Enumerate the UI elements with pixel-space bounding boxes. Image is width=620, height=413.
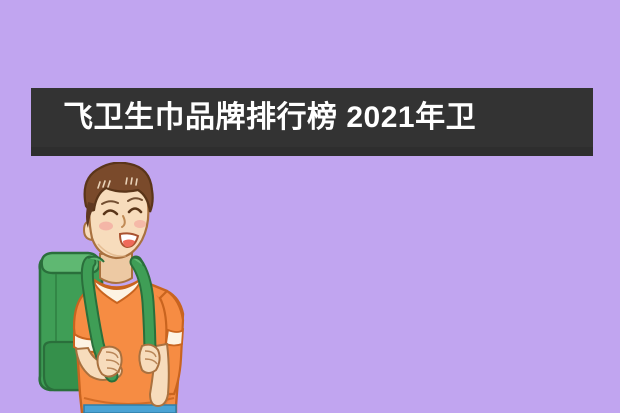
blush-left xyxy=(99,222,113,231)
blush-right xyxy=(134,220,146,228)
hand-gripping-left-strap xyxy=(98,347,122,377)
page-title: 飞卫生巾品牌排行榜 2021年卫 xyxy=(63,88,476,147)
student-illustration-svg xyxy=(28,162,218,413)
hand-gripping-right-strap xyxy=(139,345,159,373)
banner-footer-strip xyxy=(31,147,593,156)
jeans xyxy=(84,405,176,413)
page-root: 飞卫生巾品牌排行榜 2021年卫 xyxy=(0,0,620,413)
head xyxy=(84,163,153,258)
title-banner: 飞卫生巾品牌排行榜 2021年卫 xyxy=(31,88,593,156)
illustration-student-with-backpack xyxy=(28,162,218,413)
